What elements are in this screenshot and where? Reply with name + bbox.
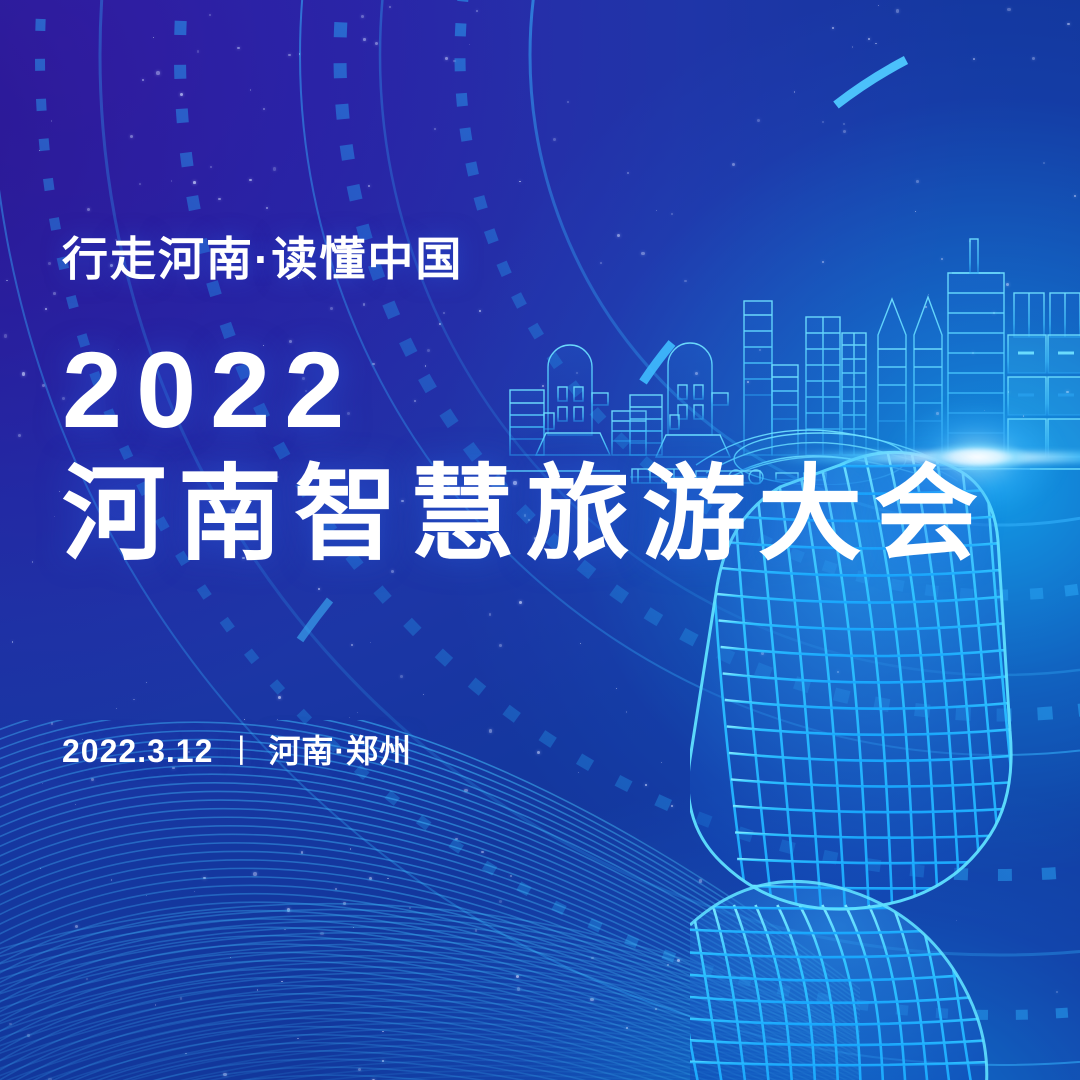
event-date: 2022.3.12 (62, 733, 213, 769)
event-meta: 2022.3.12丨河南·郑州 (62, 735, 412, 767)
main-headline: 河南智慧旅游大会 (62, 463, 982, 567)
meta-separator: 丨 (213, 735, 268, 767)
tagline: 行走河南·读懂中国 (62, 236, 982, 282)
year-heading: 2022 (62, 340, 982, 439)
poster-canvas: 行走河南·读懂中国 2022 河南智慧旅游大会 2022.3.12丨河南·郑州 (0, 0, 1080, 1080)
poster-copy-block: 行走河南·读懂中国 2022 河南智慧旅游大会 (62, 236, 982, 567)
event-location: 河南·郑州 (268, 733, 412, 769)
